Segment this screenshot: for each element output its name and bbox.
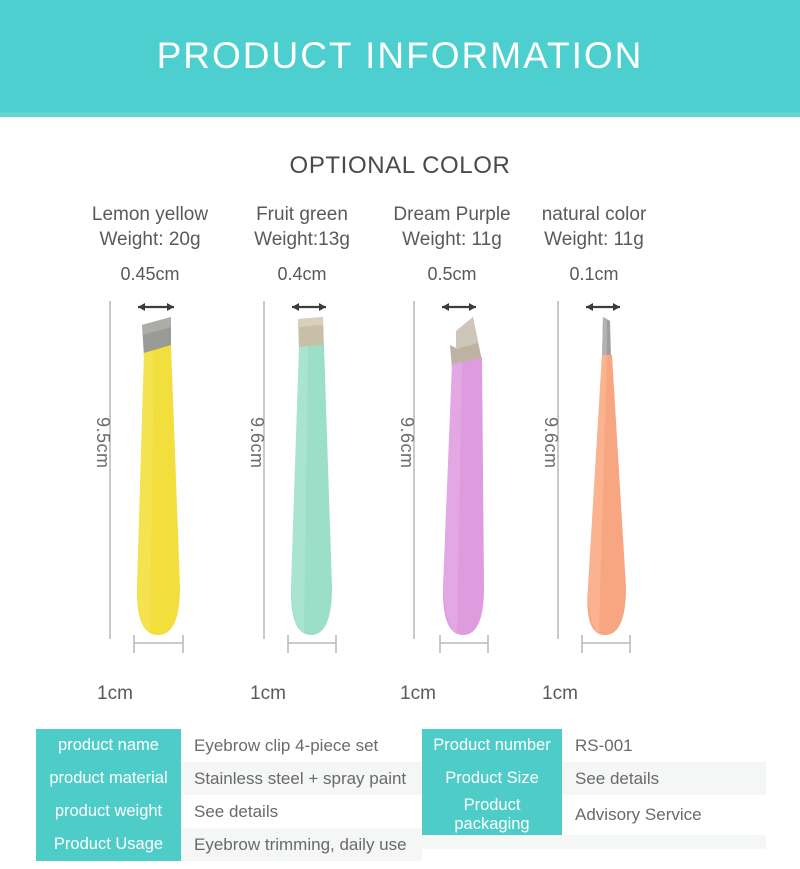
base-width-label: 1cm	[446, 683, 674, 705]
table-row: product name Eyebrow clip 4-piece set	[36, 729, 422, 762]
product-name-label: Dream Purple	[372, 202, 532, 227]
product-option-fruit-green[interactable]: Fruit green Weight:13g 0.4cm 9.6cm 1cm	[222, 202, 382, 705]
product-option-natural-color[interactable]: natural color Weight: 11g 0.1cm 9.6cm 1c…	[514, 202, 674, 705]
tweezer-figure-fruit-green: 9.6cm	[222, 287, 382, 679]
height-dimension-label: 9.6cm	[540, 417, 561, 469]
product-color-options: Lemon yellow Weight: 20g 0.45cm	[0, 202, 800, 692]
tip-width-label: 0.5cm	[372, 264, 532, 285]
product-name-label: Lemon yellow	[70, 202, 230, 227]
spec-key-product-number: Product number	[422, 729, 562, 762]
product-option-lemon-yellow[interactable]: Lemon yellow Weight: 20g 0.45cm	[70, 202, 230, 705]
product-name-label: Fruit green	[222, 202, 382, 227]
tweezer-figure-lemon-yellow: 9.5cm	[70, 287, 230, 679]
product-weight-label: Weight: 11g	[514, 227, 674, 252]
tip-width-label: 0.4cm	[222, 264, 382, 285]
spec-key-product-weight: product weight	[36, 795, 181, 828]
table-row: Product Usage Eyebrow trimming, daily us…	[36, 828, 422, 861]
spec-value-product-size: See details	[562, 762, 766, 795]
page-title: PRODUCT INFORMATION	[157, 35, 644, 77]
spec-key-product-name: product name	[36, 729, 181, 762]
spec-key-product-packaging: Product packaging	[422, 795, 562, 835]
spec-value-product-name: Eyebrow clip 4-piece set	[181, 729, 422, 762]
spec-value-product-packaging: Advisory Service	[562, 795, 766, 835]
spec-value-product-usage: Eyebrow trimming, daily use	[181, 828, 422, 861]
table-row: product weight See details	[36, 795, 422, 828]
product-weight-label: Weight:13g	[222, 227, 382, 252]
spec-value-product-number: RS-001	[562, 729, 766, 762]
spec-value-product-material: Stainless steel + spray paint	[181, 762, 422, 795]
spec-key-product-material: product material	[36, 762, 181, 795]
header-underline	[0, 112, 800, 117]
height-dimension-label: 9.6cm	[246, 417, 267, 469]
tweezer-figure-dream-purple: 9.6cm	[372, 287, 532, 679]
table-row: product material Stainless steel + spray…	[36, 762, 422, 795]
table-row: Product packaging Advisory Service	[422, 795, 766, 835]
tip-width-label: 0.45cm	[70, 264, 230, 285]
section-title: OPTIONAL COLOR	[0, 152, 800, 180]
product-name-label: natural color	[514, 202, 674, 227]
product-weight-label: Weight: 11g	[372, 227, 532, 252]
table-row: Product Size See details	[422, 762, 766, 795]
page-header: PRODUCT INFORMATION	[0, 0, 800, 112]
height-dimension-label: 9.6cm	[396, 417, 417, 469]
specification-table: product name Eyebrow clip 4-piece set pr…	[36, 729, 766, 861]
table-row: Product number RS-001	[422, 729, 766, 762]
product-option-dream-purple[interactable]: Dream Purple Weight: 11g 0.5cm 9.6cm 1cm	[372, 202, 532, 705]
tweezer-figure-natural-color: 9.6cm	[514, 287, 674, 679]
spec-key-product-size: Product Size	[422, 762, 562, 795]
spec-table-filler	[422, 835, 766, 849]
spec-value-product-weight: See details	[181, 795, 422, 828]
height-dimension-label: 9.5cm	[92, 417, 113, 469]
spec-table-left-column: product name Eyebrow clip 4-piece set pr…	[36, 729, 422, 861]
spec-key-product-usage: Product Usage	[36, 828, 181, 861]
spec-table-right-column: Product number RS-001 Product Size See d…	[422, 729, 766, 861]
tip-width-label: 0.1cm	[514, 264, 674, 285]
product-weight-label: Weight: 20g	[70, 227, 230, 252]
